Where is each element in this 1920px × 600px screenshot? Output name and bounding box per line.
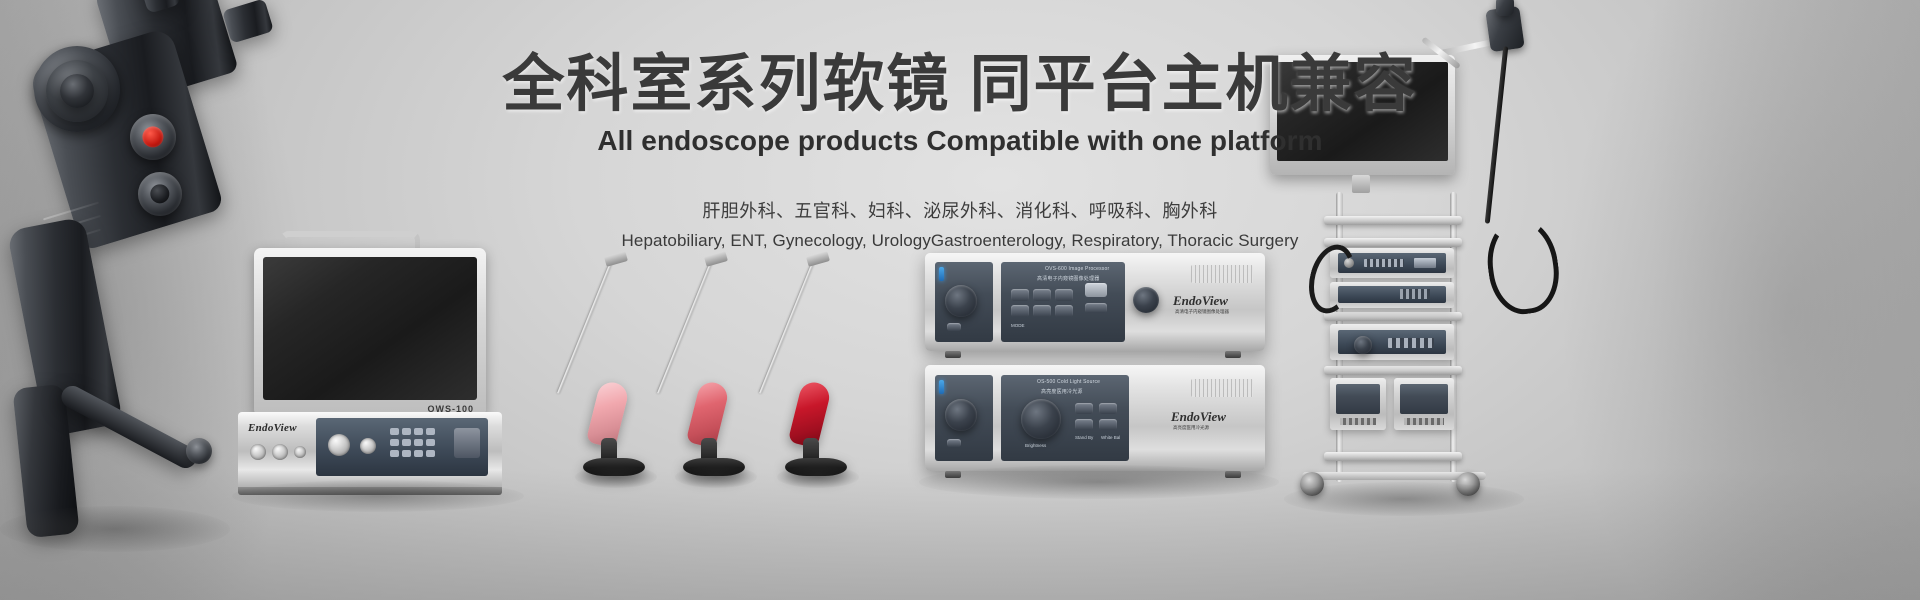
- processor-title-en: OVS-600 Image Processor: [1045, 266, 1109, 272]
- lightsource-dial-label: Brightness: [1025, 443, 1046, 448]
- lightsource-brand-sub: 高亮度医用冷光源: [1173, 425, 1209, 431]
- departments-chinese: 肝胆外科、五官科、妇科、泌尿外科、消化科、呼吸科、胸外科: [0, 197, 1920, 223]
- workstation-key[interactable]: [426, 428, 435, 435]
- workstation-connector-large: [328, 434, 350, 456]
- endoscope-light-guide-connector: [222, 0, 274, 44]
- processor-status-indicator: [939, 267, 944, 281]
- lightsource-aux-button[interactable]: [1099, 419, 1117, 430]
- cart-floor-shadow: [1284, 482, 1524, 516]
- cart-device-5: [1394, 378, 1454, 430]
- processor-scope-connector: [945, 285, 977, 317]
- lightsource-vent-grille: [1191, 379, 1253, 397]
- workstation-key[interactable]: [414, 428, 423, 435]
- workstation-display-screen: [263, 257, 477, 400]
- lightsource-whitebalance-button[interactable]: [1099, 403, 1117, 414]
- processor-foot: [945, 351, 961, 358]
- processor-function-button[interactable]: [1055, 305, 1073, 317]
- cart-device-4-keys[interactable]: [1340, 418, 1376, 425]
- endoscope-floor-shadow: [0, 506, 230, 552]
- product-processor-stack: OVS-600 Image Processor 高清电子内窥镜图像处理器 MOD…: [925, 253, 1275, 483]
- workstation-power-button[interactable]: [454, 428, 480, 458]
- workstation-monitor-bezel: OWS-100: [254, 248, 486, 416]
- cart-shelf-3: [1324, 312, 1462, 321]
- endoscope-distal-tip: [186, 438, 212, 464]
- cart-device-5-keys[interactable]: [1404, 418, 1444, 425]
- cart-shelf-4: [1324, 366, 1462, 375]
- headline-chinese: 全科室系列软镜 同平台主机兼容: [0, 52, 1920, 117]
- subheadline-english: All endoscope products Compatible with o…: [0, 125, 1920, 157]
- workstation-port-2: [272, 444, 288, 460]
- processor-function-button[interactable]: [1011, 305, 1029, 317]
- instrument-floor-shadow: [777, 466, 859, 488]
- processor-unit-light-source: OS-500 Cold Light Source 高亮度医用冷光源 Bright…: [925, 365, 1265, 471]
- cart-device-4-panel: [1336, 384, 1380, 414]
- processor-display-window: [1085, 283, 1107, 297]
- workstation-key[interactable]: [390, 450, 399, 457]
- workstation-key[interactable]: [402, 450, 411, 457]
- cart-device-1-display: [1414, 258, 1436, 268]
- product-laparoscopic-instrument-red: [707, 258, 857, 488]
- processor-usb-port[interactable]: [1085, 303, 1107, 313]
- lightsource-left-button[interactable]: [947, 439, 961, 447]
- product-endoscopy-workstation: OWS-100 EndoView: [232, 230, 532, 495]
- lightsource-title-en: OS-500 Cold Light Source: [1037, 379, 1100, 385]
- processor-floor-shadow: [919, 465, 1279, 499]
- cart-device-3: [1330, 324, 1454, 360]
- cart-device-2-keys[interactable]: [1400, 289, 1430, 299]
- workstation-floor-shadow: [232, 480, 524, 512]
- processor-brand-sub: 高清电子内窥镜图像处理器: [1175, 309, 1229, 315]
- processor-title-cn: 高清电子内窥镜图像处理器: [1037, 275, 1099, 282]
- processor-center-panel: [1001, 262, 1125, 342]
- departments-english: Hepatobiliary, ENT, Gynecology, UrologyG…: [0, 231, 1920, 251]
- workstation-key[interactable]: [414, 450, 423, 457]
- workstation-key[interactable]: [390, 439, 399, 446]
- cart-device-5-panel: [1400, 384, 1448, 414]
- workstation-brand-label: EndoView: [248, 422, 297, 434]
- workstation-connector-small: [360, 438, 376, 454]
- workstation-key[interactable]: [402, 428, 411, 435]
- workstation-port-1: [250, 444, 266, 460]
- workstation-key[interactable]: [402, 439, 411, 446]
- lightsource-fiber-port: [945, 399, 977, 431]
- processor-function-button[interactable]: [1011, 289, 1029, 301]
- lightsource-standby-button[interactable]: [1075, 403, 1093, 414]
- processor-main-knob[interactable]: [1133, 287, 1159, 313]
- processor-brand-label: EndoView: [1173, 293, 1228, 309]
- processor-left-button[interactable]: [947, 323, 961, 331]
- banner-text-block: 全科室系列软镜 同平台主机兼容 All endoscope products C…: [0, 52, 1920, 251]
- lightsource-pump-button[interactable]: [1075, 419, 1093, 430]
- workstation-key[interactable]: [390, 428, 399, 435]
- cart-device-3-keys[interactable]: [1388, 338, 1434, 348]
- cart-device-3-knob[interactable]: [1354, 336, 1372, 354]
- lightsource-brand-label: EndoView: [1171, 409, 1226, 425]
- lightsource-button-label-2: White Bal: [1101, 435, 1120, 440]
- processor-function-button[interactable]: [1033, 305, 1051, 317]
- lightsource-status-indicator: [939, 380, 944, 394]
- lightsource-title-cn: 高亮度医用冷光源: [1041, 388, 1083, 395]
- instrument-shaft: [656, 257, 713, 393]
- workstation-key[interactable]: [426, 450, 435, 457]
- lightsource-brightness-dial[interactable]: [1021, 399, 1061, 439]
- processor-foot: [1225, 351, 1241, 358]
- workstation-port-3: [294, 446, 306, 458]
- processor-function-button[interactable]: [1033, 289, 1051, 301]
- instrument-shaft: [758, 257, 815, 393]
- cart-shelf-5: [1324, 452, 1462, 461]
- banner-root: OWS-100 EndoView: [0, 0, 1920, 600]
- processor-vent-grille: [1191, 265, 1253, 283]
- instrument-jaw-tip: [806, 251, 830, 267]
- cart-device-1-keys[interactable]: [1364, 259, 1404, 267]
- cart-scope-eyepiece: [1496, 0, 1514, 16]
- workstation-key[interactable]: [426, 439, 435, 446]
- cart-device-4: [1330, 378, 1386, 430]
- processor-panel-note: MODE: [1011, 323, 1025, 328]
- lightsource-button-label-1: Stand By: [1075, 435, 1093, 440]
- processor-unit-image-processor: OVS-600 Image Processor 高清电子内窥镜图像处理器 MOD…: [925, 253, 1265, 351]
- workstation-key[interactable]: [414, 439, 423, 446]
- processor-function-button[interactable]: [1055, 289, 1073, 301]
